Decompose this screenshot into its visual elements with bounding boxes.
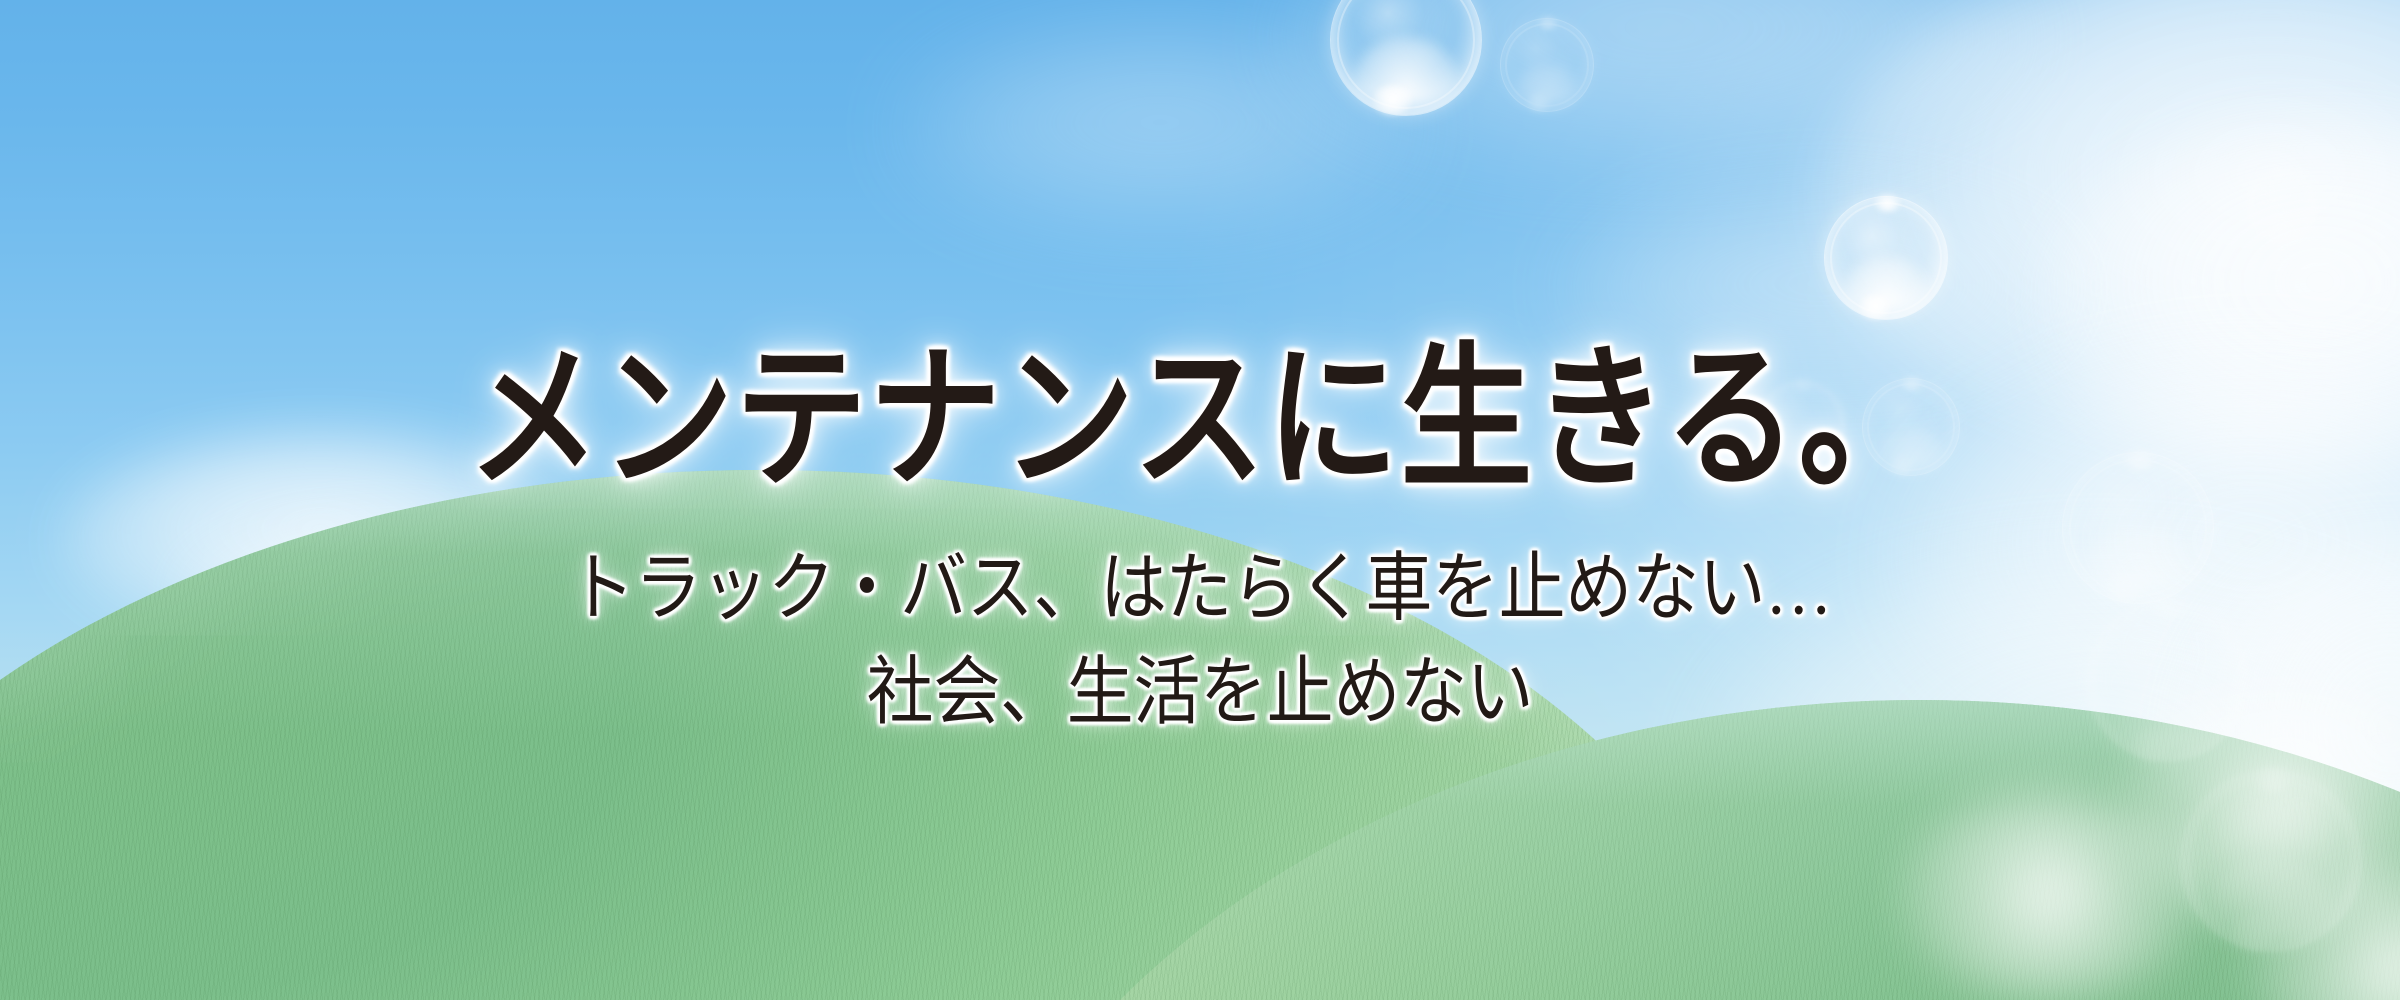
page-title: メンテナンスに生きる。 (0, 338, 2400, 503)
subtitle-line-2: 社会、生活を止めない (0, 656, 2400, 731)
subtitle-line-1: トラック・バス、はたらく車を止めない… (0, 552, 2400, 627)
hero-banner: メンテナンスに生きる。 トラック・バス、はたらく車を止めない… 社会、生活を止め… (0, 0, 2400, 1000)
